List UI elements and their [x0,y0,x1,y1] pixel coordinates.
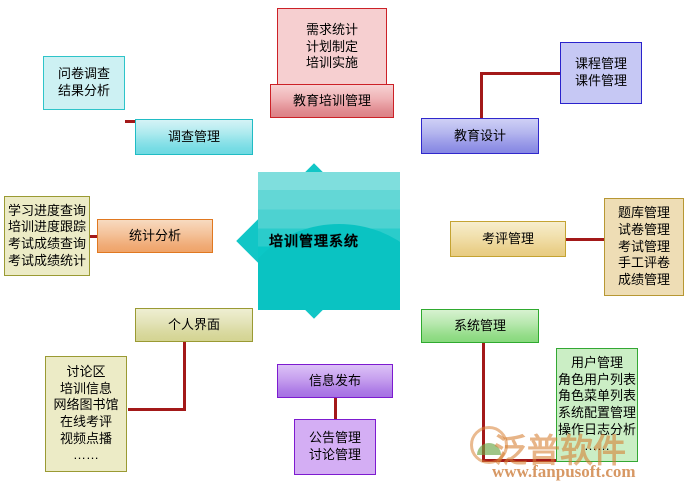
list-item: 问卷调查 [58,66,110,83]
list-item: 系统配置管理 [558,405,636,422]
node-info-publish-items[interactable]: 公告管理 讨论管理 [294,419,376,475]
list-item: 结果分析 [58,83,110,100]
list-item: 考试成绩查询 [8,236,86,253]
node-education-design-items[interactable]: 课程管理 课件管理 [560,42,642,104]
connector-system-horizontal [482,459,556,462]
node-label: 信息发布 [309,373,361,390]
list-item: …… [73,447,99,464]
node-label: 系统管理 [454,318,506,335]
connector-info-publish [334,398,337,420]
list-item: 角色菜单列表 [558,388,636,405]
list-item: 公告管理 [309,430,361,447]
connector-personal-vertical [183,340,186,410]
list-item: 培训实施 [306,55,358,72]
list-item: 考试成绩统计 [8,253,86,270]
node-system-header[interactable]: 系统管理 [421,309,539,343]
list-item: 用户管理 [571,355,623,372]
list-item: 网络图书馆 [53,397,118,414]
list-item: 操作日志分析 [558,422,636,439]
list-item: 角色用户列表 [558,372,636,389]
list-item: 在线考评 [60,414,112,431]
connector-design-horizontal [480,72,560,75]
list-item: 考试管理 [618,239,670,256]
list-item: 课件管理 [575,73,627,90]
connector-personal-horizontal [128,408,186,411]
node-survey-header[interactable]: 调查管理 [135,119,253,155]
node-education-training-items[interactable]: 需求统计 计划制定 培训实施 [277,8,387,86]
node-statistics-header[interactable]: 统计分析 [97,219,213,253]
list-item: 视频点播 [60,431,112,448]
node-label: 统计分析 [129,228,181,245]
node-label: 教育设计 [454,128,506,145]
node-personal-header[interactable]: 个人界面 [135,308,253,342]
list-item: 题库管理 [618,205,670,222]
list-item: 培训进度跟踪 [8,219,86,236]
node-label: 教育培训管理 [293,93,371,110]
node-label: 考评管理 [482,231,534,248]
node-system-items[interactable]: 用户管理 角色用户列表 角色菜单列表 系统配置管理 操作日志分析 …… [556,348,638,462]
node-personal-items[interactable]: 讨论区 培训信息 网络图书馆 在线考评 视频点播 …… [45,356,127,472]
watermark-url: www.fanpusoft.com [492,462,636,482]
list-item: 培训信息 [60,381,112,398]
list-item: 讨论区 [66,364,105,381]
node-label: 个人界面 [168,317,220,334]
node-assessment-items[interactable]: 题库管理 试卷管理 考试管理 手工评卷 成绩管理 [604,198,684,296]
node-education-training-header[interactable]: 教育培训管理 [270,84,394,118]
node-info-publish-header[interactable]: 信息发布 [277,364,393,398]
node-statistics-items[interactable]: 学习进度查询 培训进度跟踪 考试成绩查询 考试成绩统计 [4,196,90,276]
node-label: 调查管理 [168,129,220,146]
list-item: 需求统计 [306,22,358,39]
list-item: 计划制定 [306,39,358,56]
connector-system-vertical [482,342,485,462]
node-education-design-header[interactable]: 教育设计 [421,118,539,154]
list-item: 学习进度查询 [8,203,86,220]
list-item: 手工评卷 [618,255,670,272]
list-item: 试卷管理 [618,222,670,239]
connector-design-vertical [480,72,483,119]
list-item: 讨论管理 [309,447,361,464]
node-survey-items[interactable]: 问卷调查 结果分析 [43,56,125,110]
list-item: 成绩管理 [618,272,670,289]
diagram-canvas: 培训管理系统 需求统计 计划制定 培训实施 教育培训管理 问卷调查 结果分析 调… [0,0,686,482]
node-assessment-header[interactable]: 考评管理 [450,221,566,257]
list-item: …… [584,438,610,455]
list-item: 课程管理 [575,56,627,73]
